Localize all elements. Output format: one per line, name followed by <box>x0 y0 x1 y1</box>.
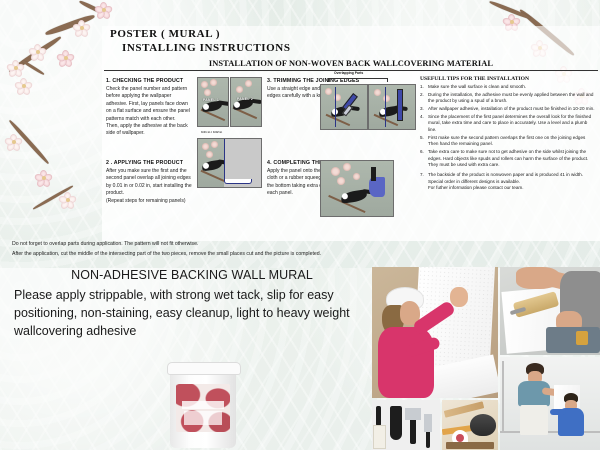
sheet-title-line1: POSTER ( MURAL ) <box>110 28 220 40</box>
squeegee-icon <box>390 406 402 440</box>
tip-number: 2. <box>420 92 426 105</box>
sheet-title-line2: INSTALLING INSTRUCTIONS <box>122 42 291 54</box>
bucket-lid <box>167 362 241 375</box>
overlap-brace <box>328 78 388 82</box>
illustration-trimming-right <box>368 84 416 130</box>
step-2-block: 2 . APPLYING THE PRODUCT After you make … <box>106 160 194 205</box>
illustration-panel-2: PANEL 2 <box>230 77 262 127</box>
step-2-heading: 2 . APPLYING THE PRODUCT <box>106 160 194 166</box>
tip-item: 4.Since the placement of the first panel… <box>420 114 596 134</box>
tips-block: USEFULL TIPS FOR THE INSTALLATION 1.Make… <box>420 76 596 193</box>
photo-man-and-child-hanging-paper <box>500 357 600 450</box>
tip-item: 5.First make sure the second pattern ove… <box>420 135 596 148</box>
tip-number: 4. <box>420 114 426 134</box>
tip-item: 7.The backside of the product is nonwove… <box>420 172 596 192</box>
photo-woman-applying-mural <box>372 267 498 398</box>
tip-item: 3.After wallpaper adhesive, installation… <box>420 106 596 113</box>
tip-text: Take extra care to make sure not to get … <box>428 149 596 169</box>
illustration-completing <box>320 160 394 217</box>
photo-paste-and-brushes <box>442 400 498 450</box>
tip-text: The backside of the product is nonwoven … <box>428 172 596 192</box>
knife-icon <box>426 430 430 448</box>
scraper-handle-icon <box>410 418 416 444</box>
step-2-body: After you make sure the first and the se… <box>106 168 194 205</box>
panel-1-label: PANEL 1 <box>203 98 219 102</box>
tip-number: 3. <box>420 106 426 113</box>
brush-handle-icon <box>376 406 381 426</box>
bucket-label <box>176 384 230 432</box>
illustration-panel-1: PANEL 1 <box>197 77 229 127</box>
step-1-heading: 1. CHECKING THE PRODUCT <box>106 78 194 84</box>
instruction-sheet: POSTER ( MURAL ) INSTALLING INSTRUCTIONS… <box>102 26 600 241</box>
tip-number: 1. <box>420 84 426 91</box>
adhesive-bucket <box>166 362 240 448</box>
sheet-subtitle: INSTALLATION OF NON-WOVEN BACK WALLCOVER… <box>104 59 598 71</box>
tip-text: Make sure the wall surface is clean and … <box>428 84 596 91</box>
tip-number: 6. <box>420 149 426 169</box>
instruction-panel-box: 1. CHECKING THE PRODUCT Check the panel … <box>102 72 600 241</box>
illustration-applying-panel <box>197 138 262 188</box>
illustration-trimming-left <box>320 84 368 130</box>
tip-item: 2.During the installation, the adhesive … <box>420 92 596 105</box>
tip-number: 5. <box>420 135 426 148</box>
tip-text: First make sure the second pattern overl… <box>428 135 596 148</box>
product-blurb: NON-ADHESIVE BACKING WALL MURAL Please a… <box>14 268 370 340</box>
overlap-measure-label: 0.01 in / 0.02 in <box>201 130 222 134</box>
smoothing-brush-icon <box>373 425 386 449</box>
blurb-body: Please apply strippable, with strong wet… <box>14 287 370 340</box>
tip-item: 6.Take extra care to make sure not to ge… <box>420 149 596 169</box>
step-1-body: Check the panel number and pattern befor… <box>106 86 194 138</box>
note-line-1: Do not forget to overlap parts during ap… <box>12 240 532 250</box>
tip-text: After wallpaper adhesive, installation o… <box>428 106 596 113</box>
photo-collage <box>372 267 600 450</box>
tip-text: During the installation, the adhesive mu… <box>428 92 596 105</box>
step-1-block: 1. CHECKING THE PRODUCT Check the panel … <box>106 78 194 138</box>
sheet-notes: Do not forget to overlap parts during ap… <box>12 240 532 259</box>
tip-text: Since the placement of the first panel d… <box>428 114 596 134</box>
paste-bowl <box>470 414 496 436</box>
tip-item: 1.Make sure the wall surface is clean an… <box>420 84 596 91</box>
photo-installation-tools <box>372 400 440 450</box>
photo-hands-rolling-paper <box>500 267 600 355</box>
poster-instruction-sheet: POSTER ( MURAL ) INSTALLING INSTRUCTIONS… <box>0 0 600 450</box>
note-line-2: After the application, cut the middle of… <box>12 250 532 260</box>
tips-heading: USEFULL TIPS FOR THE INSTALLATION <box>420 76 596 82</box>
blurb-title: NON-ADHESIVE BACKING WALL MURAL <box>14 268 370 282</box>
tip-number: 7. <box>420 172 426 192</box>
panel-2-label: PANEL 2 <box>237 97 253 101</box>
overlapping-parts-label: Overlapping Parts <box>334 71 363 75</box>
scraper-blade-icon <box>405 408 421 420</box>
